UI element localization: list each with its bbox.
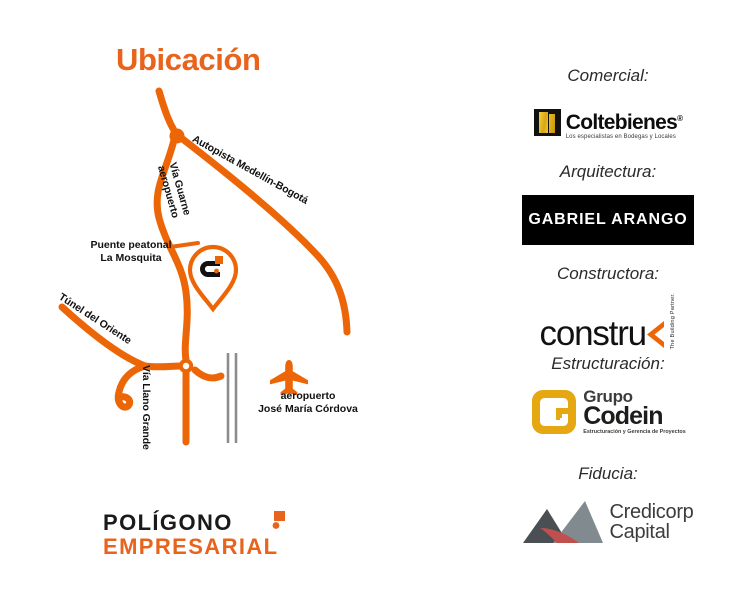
partner-block-fiducia: Fiducia: Credicorp Capital <box>470 464 746 550</box>
construk-slogan: The Building Partner. <box>670 293 677 349</box>
partner-block-constructora: Constructora: constru The Building Partn… <box>470 264 746 350</box>
partner-heading-constructora: Constructora: <box>470 264 746 284</box>
partner-heading-estructuracion: Estructuración: <box>470 354 746 374</box>
credicorp-capital-logo: Credicorp Capital <box>470 494 746 550</box>
grupo-codein-logo: Grupo Codein Estructuración y Gerencia d… <box>470 384 746 440</box>
map-panel: Ubicación <box>0 0 470 596</box>
construk-chevron-icon <box>647 321 666 348</box>
road-label-via-llano-grande: Vía Llano Grande <box>140 365 152 450</box>
aeropuerto-line2: José María Córdova <box>258 403 358 415</box>
credicorp-line1: Credicorp <box>610 502 694 522</box>
codein-wordmark: Codein <box>583 404 685 428</box>
coltebienes-logo: Coltebienes® Los especialistas en Bodega… <box>470 96 746 152</box>
map-roundabout-node <box>181 361 191 371</box>
brand-square-mark-icon <box>265 511 285 530</box>
map-roads-graphic <box>0 70 470 470</box>
puente-line2: La Mosquita <box>100 252 161 264</box>
coltebienes-door-icon <box>534 109 561 136</box>
partner-heading-fiducia: Fiducia: <box>470 464 746 484</box>
partner-heading-comercial: Comercial: <box>470 66 746 86</box>
gabriel-arango-wordmark: GABRIEL ARANGO <box>528 211 687 229</box>
brand-line-empresarial: EMPRESARIAL <box>103 534 279 560</box>
partner-block-comercial: Comercial: Coltebienes® Los especialista… <box>470 66 746 152</box>
aeropuerto-line1: aeropuerto <box>281 390 336 402</box>
codein-tagline: Estructuración y Gerencia de Proyectos <box>583 429 685 435</box>
map-label-puente-peatonal: Puente peatonal La Mosquita <box>79 239 183 264</box>
poligono-empresarial-logo: POLÍGONO EMPRESARIAL <box>103 510 288 558</box>
partner-block-arquitectura: Arquitectura: GABRIEL ARANGO <box>470 162 746 248</box>
partners-panel: Comercial: Coltebienes® Los especialista… <box>470 0 746 596</box>
puente-line1: Puente peatonal <box>90 239 171 251</box>
coltebienes-tagline: Los especialistas en Bodegas y Locales <box>566 134 683 140</box>
runway-lines <box>228 353 236 443</box>
partner-block-estructuracion: Estructuración: Grupo Codein Estructurac… <box>470 354 746 440</box>
coltebienes-wordmark: Coltebienes® <box>566 109 683 133</box>
partner-heading-arquitectura: Arquitectura: <box>470 162 746 182</box>
credicorp-mountain-icon <box>523 501 603 543</box>
construk-wordmark: constru <box>540 317 646 351</box>
registered-mark: ® <box>677 114 682 123</box>
credicorp-line2: Capital <box>610 522 694 542</box>
gabriel-arango-logo: GABRIEL ARANGO <box>470 192 746 248</box>
map-junction-node <box>170 129 185 144</box>
coltebienes-name: Coltebienes <box>566 111 677 134</box>
brand-line-poligono: POLÍGONO <box>103 510 233 536</box>
map-label-aeropuerto: aeropuerto José María Córdova <box>238 390 378 415</box>
construk-logo: constru The Building Partner. <box>470 294 746 350</box>
location-pin-icon <box>190 247 236 309</box>
codein-g-mark-icon <box>530 388 578 436</box>
